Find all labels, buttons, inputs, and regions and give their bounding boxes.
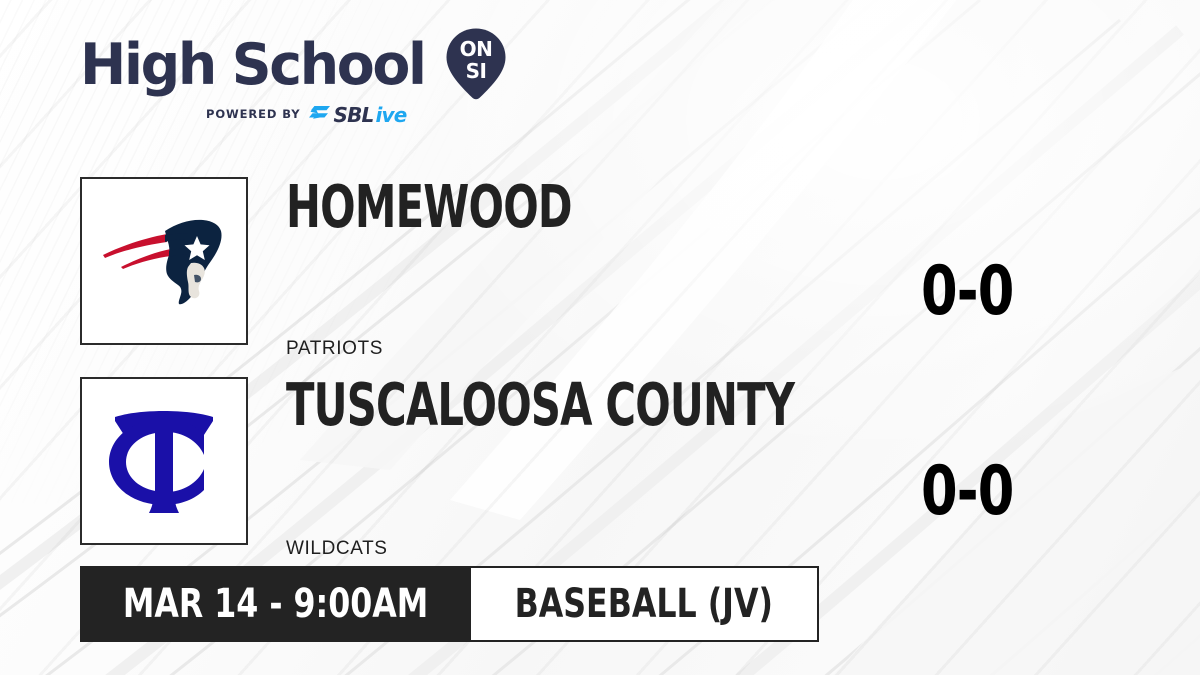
team-logo-box-away: [80, 377, 248, 545]
team-mascot-home: PATRIOTS: [286, 339, 383, 358]
on-si-pin-icon: ON SI: [445, 27, 507, 101]
team-logo-box-home: [80, 177, 248, 345]
game-sport-block: BASEBALL (JV): [471, 566, 819, 642]
team-score-away: 0-0: [921, 458, 1013, 526]
sblive-text-blue: ive: [375, 105, 406, 125]
game-sport-text: BASEBALL (JV): [515, 584, 773, 624]
sblive-logo: SBL ive: [309, 105, 406, 125]
team-score-home: 0-0: [921, 258, 1013, 326]
scoreboard-graphic: High School ON SI POWERED BY: [0, 0, 1200, 675]
team-mascot-away: WILDCATS: [286, 539, 388, 558]
team-name-away: TUSCALOOSA COUNTY: [286, 375, 794, 434]
team-name-home: HOMEWOOD: [286, 177, 572, 236]
brand-wordmark: High School: [80, 37, 425, 94]
pin-text-si: SI: [466, 59, 487, 83]
patriots-head-logo-icon: [99, 211, 229, 311]
sblive-bolt-icon: [309, 106, 331, 125]
game-datetime-text: MAR 14 - 9:00AM: [123, 584, 428, 624]
pin-text-on: ON: [460, 37, 493, 61]
brand-primary-row: High School ON SI: [80, 32, 520, 98]
brand-lockup: High School ON SI POWERED BY: [80, 32, 520, 132]
powered-by-label: POWERED BY: [206, 109, 300, 121]
tc-monogram-logo-icon: [103, 397, 225, 525]
powered-by-row: POWERED BY SBL ive: [206, 105, 520, 125]
game-datetime-block: MAR 14 - 9:00AM: [80, 566, 471, 642]
game-info-bar: MAR 14 - 9:00AM BASEBALL (JV): [80, 566, 819, 642]
sblive-text-dark: SBL: [333, 105, 373, 125]
